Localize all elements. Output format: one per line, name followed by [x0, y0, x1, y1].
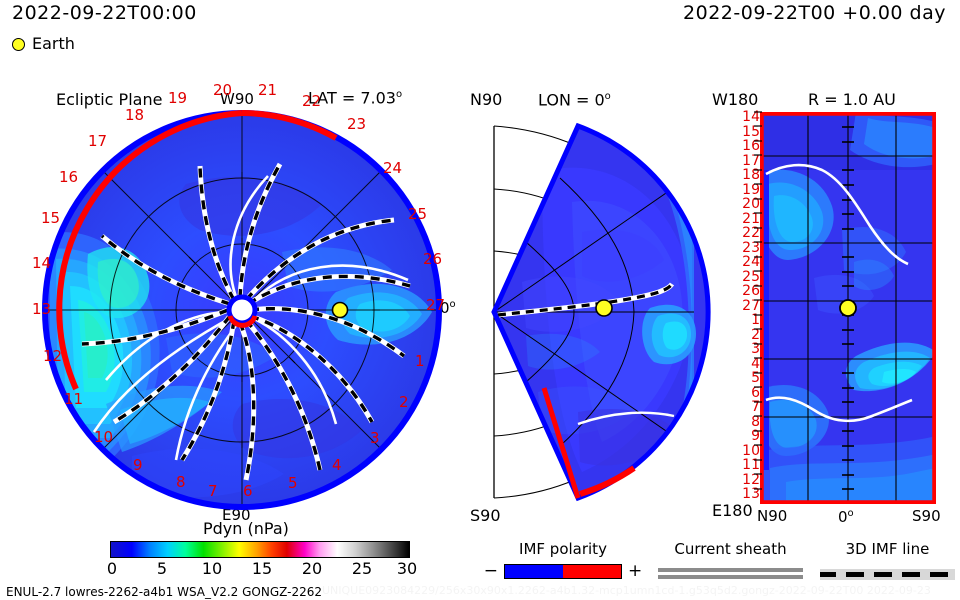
- panel3-xtick-s90: S90: [912, 509, 941, 524]
- panel2-svg: [482, 112, 712, 512]
- panel1-ecliptic-plot: 1 2 3 4 5 6 7 8 9 10 11 12 13 14 15 16 1…: [36, 104, 448, 516]
- panel1-tick-3: 3: [370, 429, 380, 447]
- panel1-tick-10: 10: [94, 428, 113, 446]
- colorbar-tick-20: 20: [302, 559, 322, 578]
- imf-line-swatch: [820, 569, 955, 580]
- panel3-latlon-plot: [760, 112, 936, 504]
- legend-3d-imf-line: 3D IMF line: [820, 542, 955, 580]
- panel3-top-left-label: W180: [712, 92, 758, 108]
- panel1-tick-20: 20: [213, 81, 232, 99]
- panel1-tick-9: 9: [133, 456, 143, 474]
- earth-marker-panel2: [596, 300, 612, 316]
- colorbar-tick-25: 25: [352, 559, 372, 578]
- panel3-bottom-left-label: E180: [712, 503, 753, 519]
- panel2-north-label: N90: [470, 92, 502, 108]
- panel1-tick-4: 4: [332, 456, 342, 474]
- colorbar-tick-0: 0: [107, 559, 117, 578]
- panel1-lat-degree: o: [396, 89, 402, 100]
- panel1-tick-13: 13: [32, 300, 51, 318]
- earth-marker-icon: [12, 38, 25, 51]
- panel3-title: R = 1.0 AU: [808, 92, 896, 108]
- panel1-tick-18: 18: [125, 106, 144, 124]
- timestamp-right: 2022-09-22T00 +0.00 day: [683, 4, 946, 23]
- colorbar-gradient: [110, 541, 410, 558]
- panel1-axis-caption: Pdyn (nPa): [203, 521, 289, 537]
- panel1-tick-25: 25: [408, 205, 427, 223]
- panel1-tick-19: 19: [168, 89, 187, 107]
- legend-3d-imf-line-title: 3D IMF line: [820, 542, 955, 557]
- panel1-tick-2: 2: [399, 393, 409, 411]
- earth-legend: Earth: [12, 36, 75, 52]
- earth-legend-label: Earth: [32, 36, 75, 52]
- colorbar-tick-15: 15: [252, 559, 272, 578]
- earth-marker-panel1: [333, 303, 348, 318]
- colorbar-tick-5: 5: [157, 559, 167, 578]
- panel2-meridional-plot: [482, 112, 712, 512]
- panel1-tick-1: 1: [415, 352, 425, 370]
- panel1-tick-26: 26: [423, 250, 442, 268]
- legend-current-sheath-title: Current sheath: [658, 542, 803, 557]
- panel3-svg: [760, 112, 936, 504]
- panel1-tick-22: 22: [302, 92, 321, 110]
- panel1-tick-17: 17: [88, 132, 107, 150]
- legend-imf-polarity: IMF polarity − +: [478, 542, 648, 580]
- timestamp-left: 2022-09-22T00:00: [12, 4, 197, 23]
- legend-imf-polarity-title: IMF polarity: [478, 542, 648, 557]
- panel1-tick-7: 7: [208, 482, 218, 500]
- polarity-negative-swatch: [505, 565, 563, 578]
- colorbar-tick-10: 10: [202, 559, 222, 578]
- panel1-tick-23: 23: [347, 115, 366, 133]
- panel1-tick-11: 11: [64, 390, 83, 408]
- panel1-tick-12: 12: [43, 347, 62, 365]
- panel1-tick-5: 5: [288, 474, 298, 492]
- polarity-plus-sign: +: [628, 563, 642, 580]
- current-sheath-swatch: [658, 568, 803, 579]
- panel2-title: LON = 0o: [538, 92, 611, 108]
- footer-model-info: ENUL-2.7 lowres-2262-a4b1 WSA_V2.2 GONGZ…: [6, 586, 322, 598]
- panel3-ytick-marks: [752, 110, 762, 502]
- panel3-xtick-n90: N90: [757, 509, 787, 524]
- panel1-tick-8: 8: [176, 473, 186, 491]
- panel1-tick-6: 6: [243, 482, 253, 500]
- panel1-tick-16: 16: [59, 168, 78, 186]
- colorbar-tick-30: 30: [397, 559, 417, 578]
- polarity-bar: [504, 564, 622, 579]
- earth-marker-panel3: [840, 300, 856, 316]
- panel1-tick-21: 21: [258, 81, 277, 99]
- legend-current-sheath: Current sheath: [658, 542, 803, 582]
- colorbar: 0 5 10 15 20 25 30: [110, 541, 410, 578]
- panel2-title-text: LON = 0: [538, 90, 605, 109]
- colorbar-ticks: 0 5 10 15 20 25 30: [110, 558, 410, 578]
- panel1-tick-14: 14: [32, 254, 51, 272]
- panel1-tick-24: 24: [383, 159, 402, 177]
- panel3-xtick-0: 0o: [838, 509, 854, 525]
- panel1-tick-27: 27: [426, 296, 445, 314]
- polarity-positive-swatch: [563, 565, 621, 578]
- polarity-minus-sign: −: [484, 563, 498, 580]
- panel1-tick-15: 15: [41, 209, 60, 227]
- footer-watermark: UNIQUE0923084229/256x30x90x1.2262-a4b1.3…: [322, 584, 931, 597]
